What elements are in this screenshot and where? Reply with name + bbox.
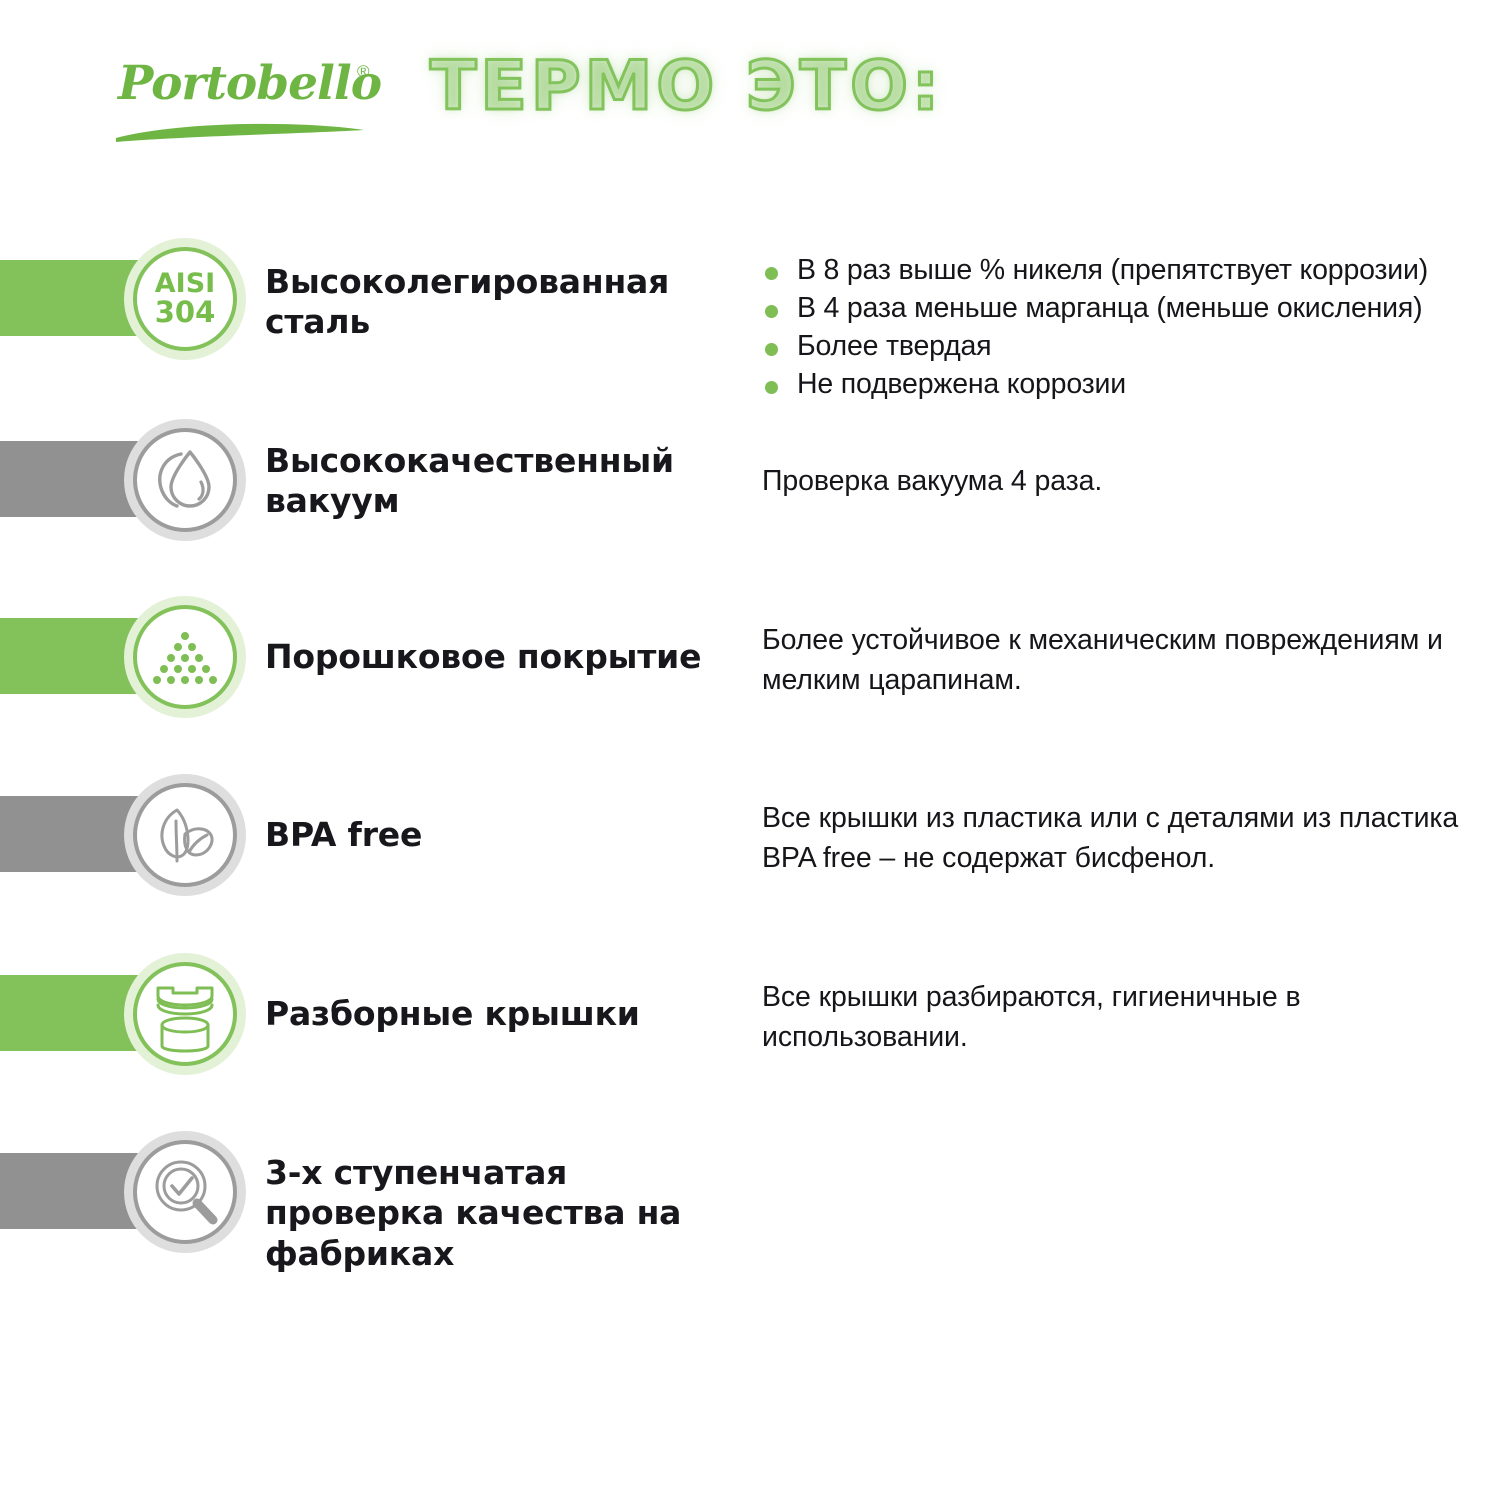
feature-title: BPA free <box>265 815 735 855</box>
feature-description: Все крышки разбираются, гигиеничные в ис… <box>762 977 1482 1058</box>
icon-disc <box>133 1140 237 1244</box>
feature-row: BPA free Все крышки из пластика или с де… <box>0 738 1500 928</box>
feature-title: Высококачественный вакуум <box>265 441 735 522</box>
feature-row: Порошковое покрытие Более устойчивое к м… <box>0 560 1500 750</box>
feature-title: Порошковое покрытие <box>265 637 735 677</box>
feature-row: Разборные крышки Все крышки разбираются,… <box>0 917 1500 1107</box>
aisi-label: AISI <box>155 270 215 298</box>
list-item: В 8 раз выше % никеля (препятствует корр… <box>762 252 1492 290</box>
feature-description: Все крышки из пластика или с деталями из… <box>762 798 1482 879</box>
leaves-icon <box>137 787 233 883</box>
feature-title: Разборные крышки <box>265 994 735 1034</box>
feature-description: Более устойчивое к механическим поврежде… <box>762 620 1482 701</box>
water-droplet-icon <box>137 432 233 528</box>
detachable-lid-icon <box>137 966 233 1062</box>
icon-disc <box>133 428 237 532</box>
icon-disc <box>133 783 237 887</box>
icon-disc <box>133 962 237 1066</box>
magnifier-check-icon <box>137 1144 233 1240</box>
feature-row: 3-х ступенчатая проверка качества на фаб… <box>0 1095 1500 1285</box>
feature-row: AISI 304 Высоколегированная сталь В 8 ра… <box>0 202 1500 392</box>
icon-disc <box>133 605 237 709</box>
list-item: В 4 раза меньше марганца (меньше окислен… <box>762 290 1492 328</box>
list-item: Более твердая <box>762 328 1492 366</box>
feature-row: Высококачественный вакуум Проверка вакуу… <box>0 383 1500 573</box>
powder-dots-icon <box>137 609 233 705</box>
aisi-grade: 304 <box>155 298 216 328</box>
aisi-304-badge-icon: AISI 304 <box>137 251 233 347</box>
icon-disc: AISI 304 <box>133 247 237 351</box>
feature-description: Проверка вакуума 4 раза. <box>762 461 1482 501</box>
feature-bullet-list: В 8 раз выше % никеля (препятствует корр… <box>762 252 1492 404</box>
feature-title: 3-х ступенчатая проверка качества на фаб… <box>265 1153 735 1274</box>
feature-title: Высоколегированная сталь <box>265 262 735 343</box>
feature-list: AISI 304 Высоколегированная сталь В 8 ра… <box>0 0 1500 1500</box>
